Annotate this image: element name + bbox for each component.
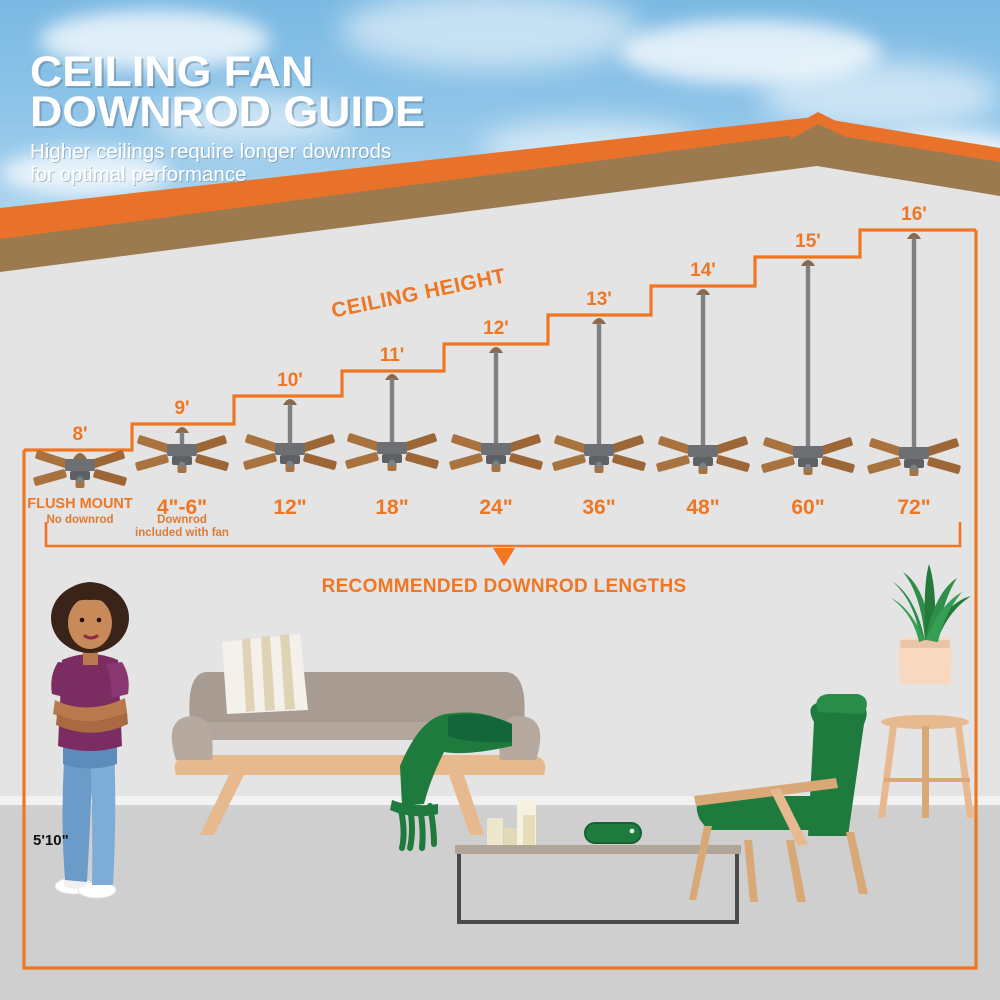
ceiling-height-label-12ft: 12' bbox=[483, 318, 509, 340]
lounge-chair bbox=[689, 694, 868, 902]
downrod-length-label-8: 60" bbox=[791, 496, 824, 520]
candle-group bbox=[487, 800, 536, 845]
face bbox=[68, 597, 112, 649]
stand-leg-right bbox=[955, 726, 974, 818]
table-top bbox=[455, 845, 741, 854]
downrod-length-label-6: 36" bbox=[582, 496, 615, 520]
candle-tiny bbox=[504, 828, 517, 845]
downrod-note-1-1: No downrod bbox=[46, 514, 113, 527]
aloe-leaves bbox=[891, 564, 971, 642]
sofa-leg-left bbox=[200, 775, 244, 835]
downrod-length-label-3: 12" bbox=[273, 496, 306, 520]
subtitle-line-1: Higher ceilings require longer downrods bbox=[30, 140, 410, 163]
stand-leg-mid bbox=[922, 726, 929, 818]
stand-crossbar bbox=[884, 778, 970, 782]
ceiling-height-label-11ft: 11' bbox=[380, 345, 405, 367]
ceiling-height-label-9ft: 9' bbox=[174, 398, 189, 420]
table-leg-left bbox=[457, 854, 461, 924]
infographic-canvas: CEILING FAN DOWNROD GUIDE Higher ceiling… bbox=[0, 0, 1000, 1000]
downrod-banner-label: RECOMMENDED DOWNROD LENGTHS bbox=[322, 576, 687, 598]
chair-leg-front-left bbox=[689, 826, 712, 900]
tray-accent bbox=[630, 829, 635, 834]
ceiling-height-label-16ft: 16' bbox=[901, 204, 927, 226]
leaf bbox=[903, 572, 927, 640]
ceiling-height-label-15ft: 15' bbox=[795, 231, 821, 253]
downrod-length-label-9: 72" bbox=[897, 496, 930, 520]
subtitle-line-2: for optimal performance bbox=[30, 163, 410, 186]
downrod-length-label-1: FLUSH MOUNT bbox=[27, 496, 133, 512]
table-leg-right bbox=[735, 854, 739, 924]
title-line-2: DOWNROD GUIDE bbox=[30, 92, 425, 132]
sofa bbox=[172, 634, 546, 848]
stand-leg-left bbox=[878, 726, 897, 818]
potted-plant bbox=[891, 564, 971, 684]
downrod-note-2-1: Downrod bbox=[157, 514, 207, 527]
throw-pillow bbox=[222, 634, 308, 714]
chair-leg-front-right bbox=[744, 840, 758, 902]
downrod-note-2-2: included with fan bbox=[135, 527, 229, 540]
sofa-base-frame bbox=[175, 755, 546, 775]
chair-back-top bbox=[816, 694, 867, 714]
downrod-length-label-7: 48" bbox=[686, 496, 719, 520]
ceiling-height-label-13ft: 13' bbox=[586, 289, 612, 311]
eye-left bbox=[80, 618, 85, 623]
candle-small bbox=[487, 818, 503, 845]
title-block: CEILING FAN DOWNROD GUIDE Higher ceiling… bbox=[30, 52, 410, 186]
downrod-length-label-5: 24" bbox=[479, 496, 512, 520]
chair-leg-back-left bbox=[786, 840, 806, 902]
person-height-label: 5'10" bbox=[33, 832, 69, 849]
ceiling-height-label-14ft: 14' bbox=[690, 260, 716, 282]
downrod-length-label-4: 18" bbox=[375, 496, 408, 520]
chair-leg-back-right bbox=[846, 832, 868, 894]
title-line-1: CEILING FAN bbox=[30, 52, 425, 92]
ceiling-height-label-8ft: 8' bbox=[72, 424, 87, 446]
table-stretcher bbox=[457, 920, 739, 924]
eye-right bbox=[97, 618, 102, 623]
person-figure bbox=[51, 582, 129, 898]
pot-rim bbox=[900, 640, 950, 648]
plant-stand bbox=[878, 715, 974, 818]
candle-medium bbox=[523, 815, 535, 845]
sofa-leg-right bbox=[449, 775, 484, 835]
ceiling-height-label-10ft: 10' bbox=[277, 370, 303, 392]
